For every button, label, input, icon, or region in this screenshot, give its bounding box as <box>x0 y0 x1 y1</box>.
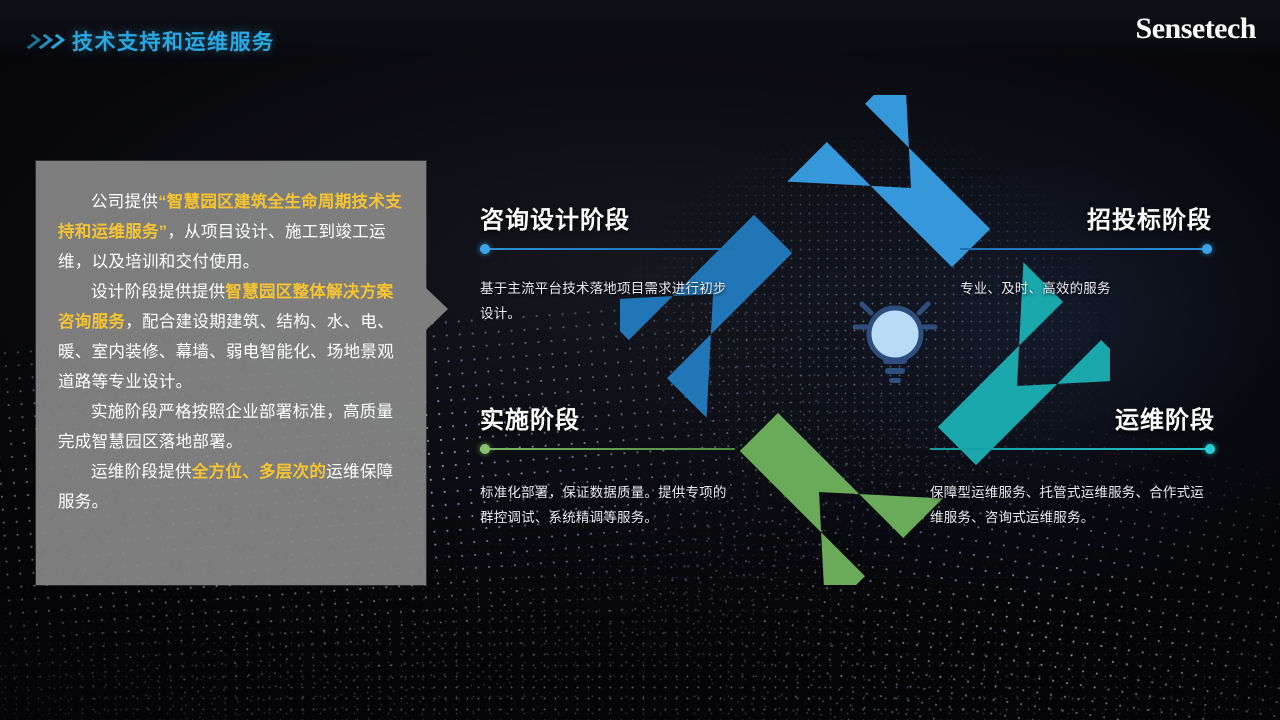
stage-block-operations: 运维阶段 保障型运维服务、托管式运维服务、合作式运维服务、咨询式运维服务。 <box>930 400 1215 530</box>
description-paragraph-3: 实施阶段严格按照企业部署标准，高质量完成智慧园区落地部署。 <box>58 397 404 457</box>
stage-rule-line <box>960 248 1212 250</box>
description-paragraph-4: 运维阶段提供全方位、多层次的运维保障服务。 <box>58 457 404 517</box>
slide-root: 技术支持和运维服务 Sensetech 公司提供“智慧园区建筑全生命周期技术支持… <box>0 0 1280 720</box>
stage-desc-implementation: 标准化部署，保证数据质量。提供专项的群控调试、系统精调等服务。 <box>480 480 735 530</box>
stage-rule-bid <box>960 244 1212 254</box>
para4-run2-highlight: 全方位、多层次的 <box>192 463 326 481</box>
stage-rule-dot <box>1202 244 1212 254</box>
para4-run1: 运维阶段提供 <box>91 463 192 481</box>
stage-title-consult: 咨询设计阶段 <box>480 200 735 235</box>
brand-logo: Sensetech <box>1136 12 1256 46</box>
stage-title-operations: 运维阶段 <box>930 400 1215 435</box>
description-panel-text: 公司提供“智慧园区建筑全生命周期技术支持和运维服务”，从项目设计、施工到竣工运维… <box>36 161 426 517</box>
stage-rule-implementation <box>480 444 735 454</box>
stage-block-implementation: 实施阶段 标准化部署，保证数据质量。提供专项的群控调试、系统精调等服务。 <box>480 400 735 530</box>
stage-block-bid: 招投标阶段 专业、及时、高效的服务 <box>960 200 1212 301</box>
header-bar: 技术支持和运维服务 Sensetech <box>0 0 1280 60</box>
stage-rule-dot <box>1205 444 1215 454</box>
page-title: 技术支持和运维服务 <box>72 26 275 56</box>
description-panel: 公司提供“智慧园区建筑全生命周期技术支持和运维服务”，从项目设计、施工到竣工运维… <box>36 161 426 585</box>
para1-run1: 公司提供 <box>91 193 158 211</box>
stage-desc-consult: 基于主流平台技术落地项目需求进行初步设计。 <box>480 276 735 326</box>
stage-rule-line <box>930 448 1215 450</box>
stage-desc-bid: 专业、及时、高效的服务 <box>960 276 1212 301</box>
stage-desc-operations: 保障型运维服务、托管式运维服务、合作式运维服务、咨询式运维服务。 <box>930 480 1215 530</box>
para3-run1: 实施阶段严格按照企业部署标准，高质量完成智慧园区落地部署。 <box>58 403 393 451</box>
stage-rule-line <box>480 248 735 250</box>
triple-chevron-right-icon <box>26 34 60 49</box>
lightbulb-icon <box>852 290 938 386</box>
stage-rule-dot <box>480 444 490 454</box>
stage-rule-operations <box>930 444 1215 454</box>
arrow-bottom-left <box>700 373 943 585</box>
stage-title-implementation: 实施阶段 <box>480 400 735 435</box>
stage-rule-dot <box>480 244 490 254</box>
description-paragraph-1: 公司提供“智慧园区建筑全生命周期技术支持和运维服务”，从项目设计、施工到竣工运维… <box>58 187 404 277</box>
description-panel-pointer <box>426 288 448 330</box>
description-paragraph-2: 设计阶段提供提供智慧园区整体解决方案咨询服务，配合建设期建筑、结构、水、电、暖、… <box>58 277 404 397</box>
page-title-group: 技术支持和运维服务 <box>26 26 275 56</box>
stage-title-bid: 招投标阶段 <box>960 200 1212 235</box>
stage-rule-line <box>480 448 735 450</box>
stage-rule-consult <box>480 244 735 254</box>
stage-block-consult: 咨询设计阶段 基于主流平台技术落地项目需求进行初步设计。 <box>480 200 735 326</box>
para2-run1: 设计阶段提供提供 <box>91 283 225 301</box>
